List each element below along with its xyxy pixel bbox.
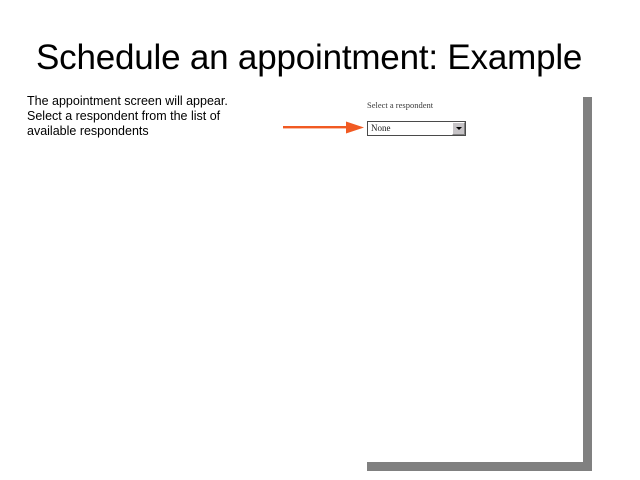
chevron-down-glyph xyxy=(456,127,462,130)
right-arrow-callout-icon xyxy=(283,119,367,136)
page-title: Schedule an appointment: Example xyxy=(36,36,616,80)
respondent-dropdown[interactable]: None xyxy=(367,121,466,136)
chevron-down-icon[interactable] xyxy=(452,122,465,135)
slide-canvas: Schedule an appointment: Example The app… xyxy=(0,0,640,480)
respondent-field-label: Select a respondent xyxy=(367,100,433,110)
screenshot-shadow-bottom xyxy=(367,462,592,471)
body-text: The appointment screen will appear. Sele… xyxy=(27,94,257,140)
respondent-dropdown-value: None xyxy=(368,122,391,135)
screenshot-shadow-right xyxy=(583,97,592,471)
